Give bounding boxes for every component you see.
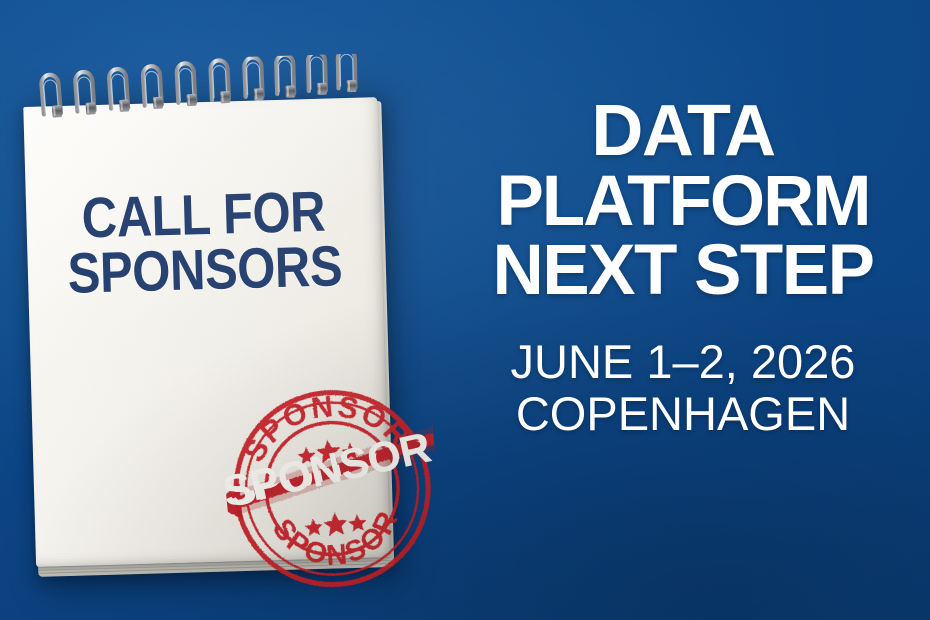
event-details: JUNE 1–2, 2026 COPENHAGEN bbox=[452, 336, 914, 441]
event-title-line-1: DATA bbox=[452, 96, 914, 167]
event-title-line-2: PLATFORM bbox=[452, 167, 914, 237]
spiral-binding-icon bbox=[18, 53, 392, 143]
event-location: COPENHAGEN bbox=[452, 388, 914, 441]
sponsor-call-poster: CALL FOR SPONSORS bbox=[0, 0, 930, 620]
sponsor-stamp: SPONSOR SPONSOR bbox=[216, 375, 447, 603]
notepad-headline: CALL FOR SPONSORS bbox=[50, 184, 357, 303]
notepad: CALL FOR SPONSORS bbox=[18, 53, 404, 575]
event-title-line-3: NEXT STEP bbox=[452, 236, 914, 306]
event-info-block: DATA PLATFORM NEXT STEP JUNE 1–2, 2026 C… bbox=[452, 96, 914, 441]
event-date: JUNE 1–2, 2026 bbox=[452, 336, 914, 389]
